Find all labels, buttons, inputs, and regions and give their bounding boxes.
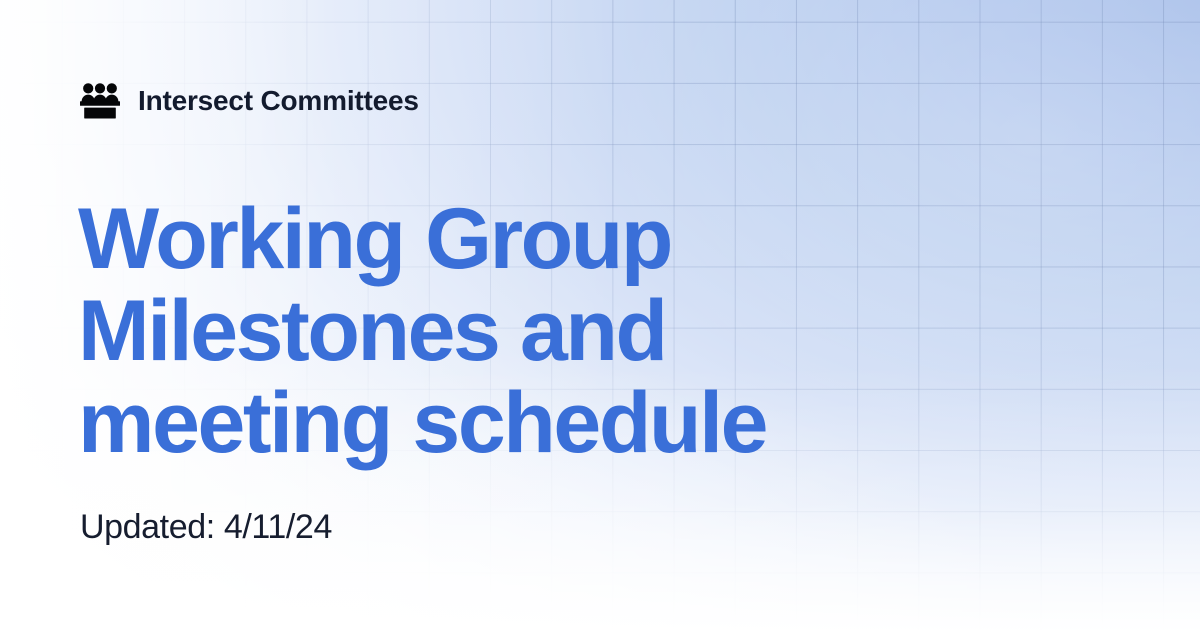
updated-timestamp: Updated: 4/11/24 (80, 506, 332, 549)
page-title-line-1: Working Group (78, 193, 978, 285)
page-title-line-3: meeting schedule (78, 377, 978, 469)
brand-lockup: Intersect Committees (80, 83, 419, 119)
page-title-line-2: Milestones and (78, 285, 978, 377)
committee-people-icon (80, 83, 120, 119)
card-content: Intersect Committees Working Group Miles… (0, 0, 1200, 630)
page-title: Working Group Milestones and meeting sch… (78, 193, 978, 469)
brand-name: Intersect Committees (138, 87, 419, 115)
social-share-card: Intersect Committees Working Group Miles… (0, 0, 1200, 630)
